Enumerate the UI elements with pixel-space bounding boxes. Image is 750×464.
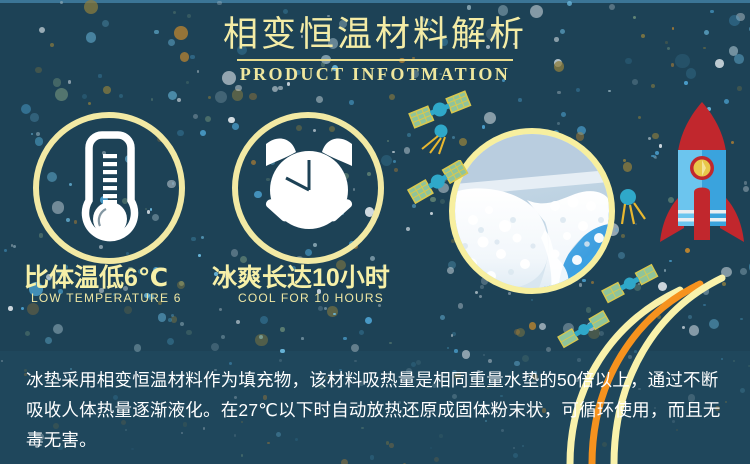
antenna-probe-icon <box>418 122 452 156</box>
feature-2-label-cn: 冰爽长达10小时 <box>212 258 390 294</box>
product-info-banner: 相变恒温材料解析 PRODUCT INFOTMATION 比体温低6℃ LOW … <box>0 0 750 464</box>
feature-2-label-en: COOL FOR 10 HOURS <box>238 291 384 305</box>
antenna-probe-icon <box>614 188 652 228</box>
product-photo-frame <box>449 128 615 294</box>
header: 相变恒温材料解析 PRODUCT INFOTMATION <box>0 14 750 85</box>
alarm-clock-icon <box>256 132 362 244</box>
page-title: 相变恒温材料解析 <box>0 14 750 56</box>
feature-1-label-cn: 比体温低6℃ <box>24 258 168 294</box>
satellite-icon <box>556 310 612 350</box>
title-divider <box>237 59 513 61</box>
rocket-icon <box>650 100 750 275</box>
thermometer-icon <box>76 126 144 248</box>
page-subtitle: PRODUCT INFOTMATION <box>0 63 750 85</box>
product-photo <box>455 134 609 288</box>
description-paragraph: 冰垫采用相变恒温材料作为填充物，该材料吸热量是相同重量水垫的50倍以上，通过不断… <box>26 365 726 455</box>
satellite-icon <box>406 160 470 204</box>
feature-1-label-en: LOW TEMPERATURE 6 <box>31 291 182 305</box>
